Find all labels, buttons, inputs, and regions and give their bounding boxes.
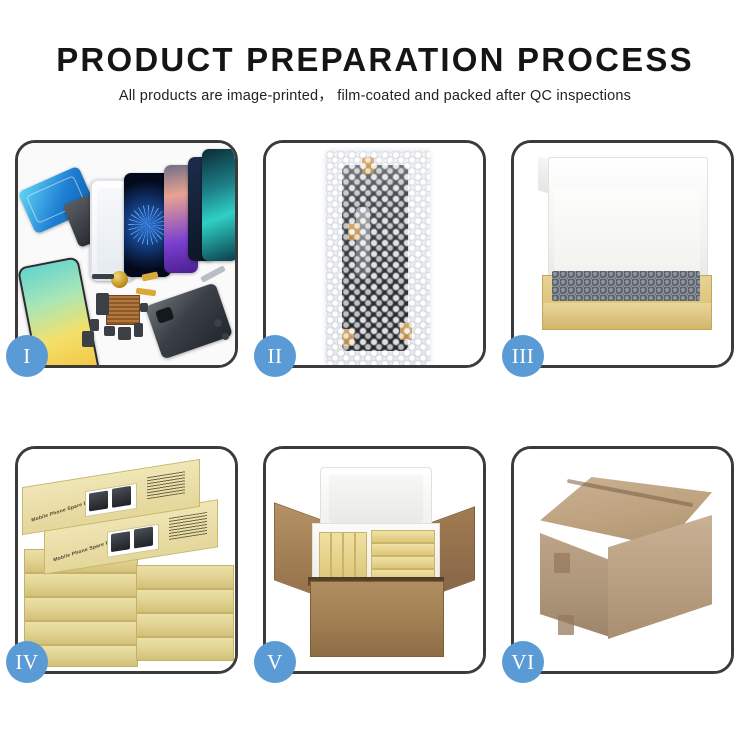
inner-box-scene xyxy=(514,143,731,365)
packed-box-3 xyxy=(343,532,355,578)
panel-4-image: Mobile Phone Spare Parts Mobile Phone Sp… xyxy=(18,449,235,671)
label-spec-lines-lower xyxy=(169,512,207,540)
phone-parts-scene xyxy=(18,143,235,365)
foam-lid xyxy=(320,467,432,531)
stack-box-l2 xyxy=(24,573,138,597)
wrapped-phone-part xyxy=(342,165,408,351)
process-panel-grid: I II xyxy=(15,140,735,674)
tape-tab-bottom-right xyxy=(400,323,412,340)
process-panel-1: I xyxy=(15,140,238,368)
page-subtitle: All products are image-printed， film-coa… xyxy=(0,87,750,106)
carton-left-face xyxy=(540,533,610,637)
tweezers-tool xyxy=(200,265,226,283)
screw-part-a xyxy=(214,319,222,327)
page-title: PRODUCT PREPARATION PROCESS xyxy=(0,40,750,80)
process-panel-2: II xyxy=(263,140,486,368)
packed-box-7 xyxy=(371,556,435,569)
button-flex-part xyxy=(134,323,143,337)
product-preparation-infographic: PRODUCT PREPARATION PROCESS All products… xyxy=(0,0,750,750)
process-panel-5: V xyxy=(263,446,486,674)
connector-part xyxy=(92,274,114,279)
screw-plate-part xyxy=(140,303,148,312)
label-phone-top-b xyxy=(112,486,131,508)
label-spec-lines-top xyxy=(147,471,185,499)
tape-tab-top xyxy=(362,157,374,174)
vibrator-part xyxy=(118,327,131,340)
box-stack-scene: Mobile Phone Spare Parts Mobile Phone Sp… xyxy=(18,449,235,671)
camera-module-part xyxy=(96,293,109,315)
teal-screen-phone xyxy=(202,149,235,261)
screw-part-b xyxy=(222,333,229,340)
crack-burst xyxy=(128,205,168,245)
label-phone-top-a xyxy=(89,490,108,511)
panel-6-image xyxy=(514,449,731,671)
stack-box-r4 xyxy=(136,613,234,637)
panel-badge-3: III xyxy=(502,335,544,377)
panel-badge-1: I xyxy=(6,335,48,377)
carton-tape-patch-lower xyxy=(558,615,574,635)
panel-1-image xyxy=(18,143,235,365)
logic-board-part xyxy=(106,295,140,325)
carton-front-panel xyxy=(310,581,444,657)
gold-chip-part xyxy=(111,271,128,288)
stack-box-l4 xyxy=(24,621,138,645)
bubble-wrap-package xyxy=(326,151,430,365)
packed-box-6 xyxy=(371,543,435,556)
bubble-wrapped-contents xyxy=(552,271,700,301)
speaker-part xyxy=(104,326,115,336)
small-bracket-part xyxy=(90,319,99,331)
panel-2-image xyxy=(266,143,483,365)
packed-box-2 xyxy=(331,532,343,578)
stack-box-r2 xyxy=(136,565,234,589)
inner-box-front-panel xyxy=(542,303,712,330)
process-panel-4: Mobile Phone Spare Parts Mobile Phone Sp… xyxy=(15,446,238,674)
process-panel-3: III xyxy=(511,140,734,368)
sim-tray-part xyxy=(82,331,94,347)
bubble-wrap-scene xyxy=(266,143,483,365)
panel-badge-2: II xyxy=(254,335,296,377)
packed-box-5 xyxy=(371,530,435,543)
packed-box-4 xyxy=(355,532,367,578)
tape-tab-bottom-left xyxy=(342,329,354,346)
stack-box-l3 xyxy=(24,597,138,621)
panel-3-image xyxy=(514,143,731,365)
stack-box-r5 xyxy=(136,637,234,661)
process-panel-6: VI xyxy=(511,446,734,674)
carton-tape-patch-upper xyxy=(554,553,570,573)
panel-badge-5: V xyxy=(254,641,296,683)
tape-tab-middle xyxy=(348,223,360,240)
panel-5-image xyxy=(266,449,483,671)
packed-box-1 xyxy=(319,532,331,578)
sealed-carton-scene xyxy=(514,449,731,671)
header: PRODUCT PREPARATION PROCESS All products… xyxy=(0,40,750,106)
label-phone-lower-b xyxy=(134,527,153,549)
carton-packing-scene xyxy=(266,449,483,671)
panel-badge-4: IV xyxy=(6,641,48,683)
label-phone-lower-a xyxy=(111,531,130,552)
stack-box-r3 xyxy=(136,589,234,613)
panel-badge-6: VI xyxy=(502,641,544,683)
